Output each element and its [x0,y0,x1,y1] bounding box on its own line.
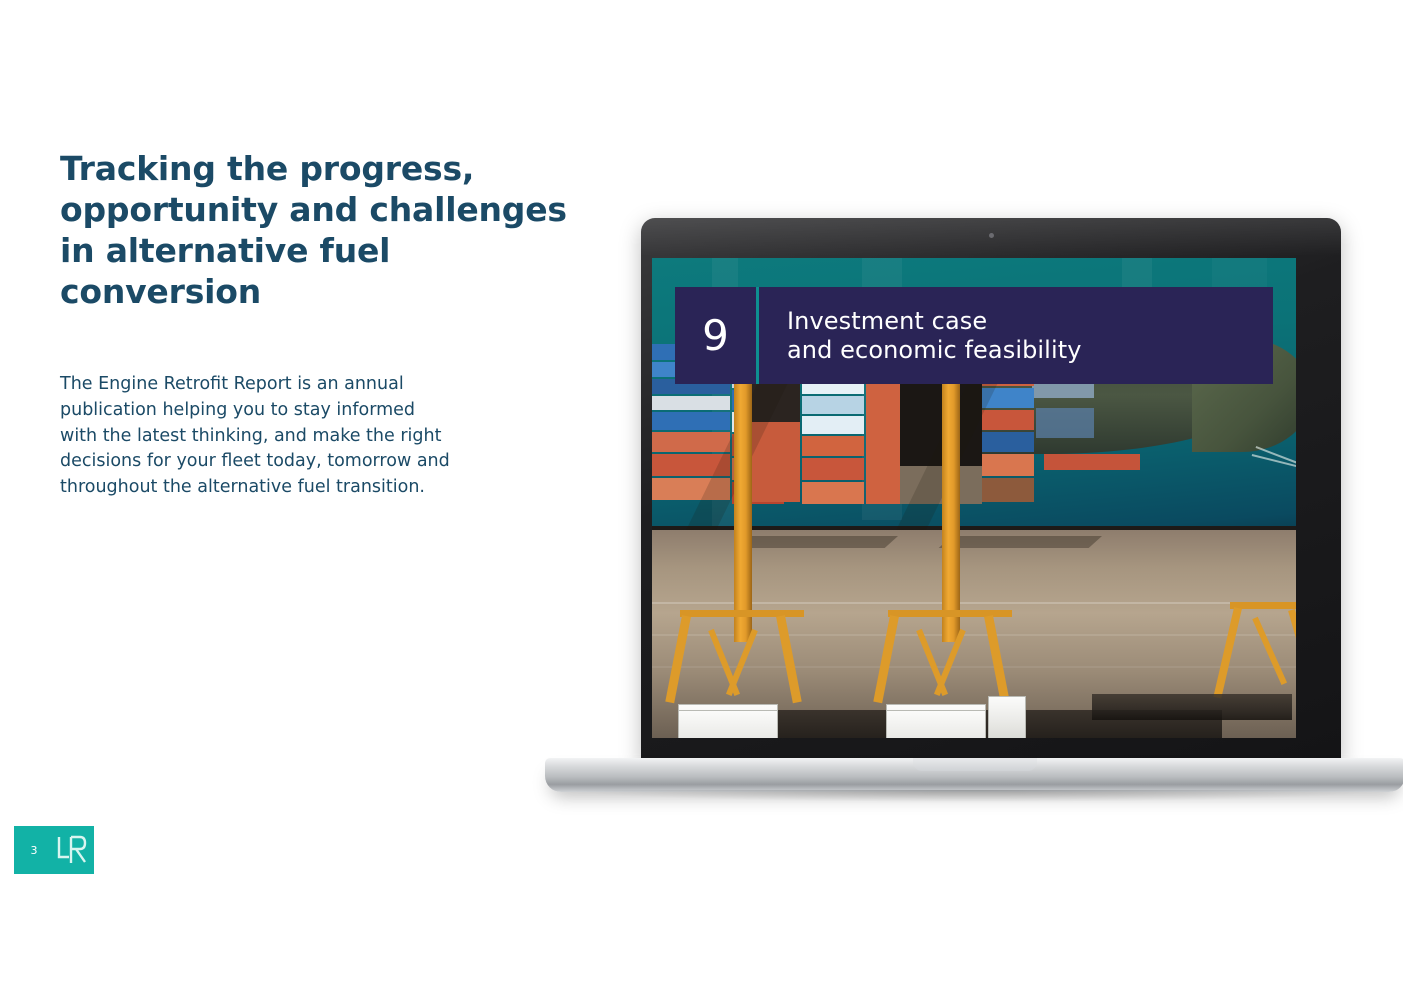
laptop-base-notch [913,758,1037,771]
slide-banner: 9 Investment case and economic feasibili… [675,287,1273,384]
laptop-screen: 9 Investment case and economic feasibili… [652,258,1296,738]
banner-number-cell: 9 [675,287,756,384]
page-number: 3 [14,844,54,857]
laptop-base [545,758,1403,792]
text-column: Tracking the progress, opportunity and c… [60,148,590,501]
mooring-line [1252,454,1296,499]
intro-paragraph: The Engine Retrofit Report is an annual … [60,312,500,501]
webcam-icon [989,233,994,238]
laptop-mockup: 9 Investment case and economic feasibili… [545,218,1403,808]
footer-badge: 3 [14,826,94,874]
banner-text-cell: Investment case and economic feasibility [759,287,1273,384]
banner-title-line-1: Investment case [787,307,1273,336]
page-title: Tracking the progress, opportunity and c… [60,148,590,312]
banner-title-line-2: and economic feasibility [787,336,1273,365]
laptop-lid: 9 Investment case and economic feasibili… [641,218,1341,763]
banner-section-number: 9 [702,315,729,357]
laptop-shadow [575,790,1375,802]
lr-logo-icon [54,833,88,867]
